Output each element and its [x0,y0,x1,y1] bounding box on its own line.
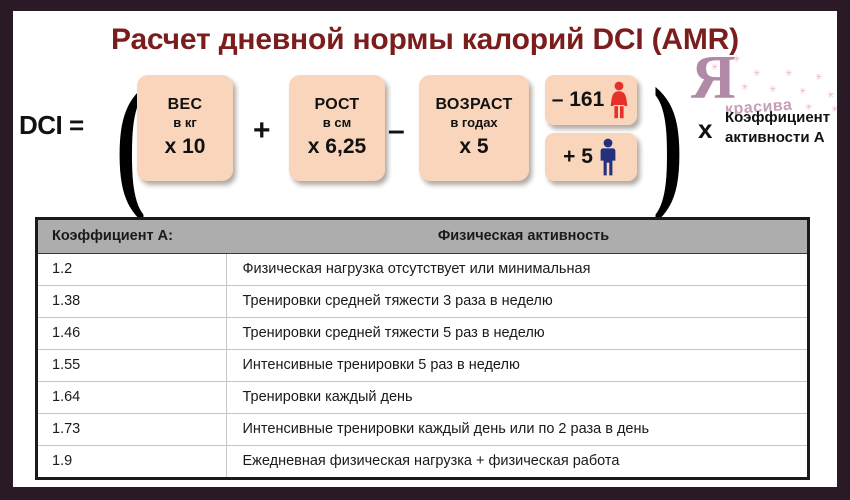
box-height-title: РОСТ [314,96,359,114]
male-figure-icon [597,138,619,176]
table-row: 1.55Интенсивные тренировки 5 раз в недел… [38,349,807,381]
box-age-unit: в годах [450,115,497,132]
cell-activity: Физическая нагрузка отсутствует или мини… [226,253,807,285]
cell-coefficient: 1.38 [38,285,226,317]
cell-coefficient: 1.46 [38,317,226,349]
formula-box-height: РОСТ в см x 6,25 [289,75,385,181]
cell-coefficient: 1.64 [38,381,226,413]
activity-coefficient-label: Коэффициент активности А [725,108,837,149]
table-row: 1.2Физическая нагрузка отсутствует или м… [38,253,807,285]
formula-box-age: ВОЗРАСТ в годах x 5 [419,75,529,181]
table-row: 1.64Тренировки каждый день [38,381,807,413]
cell-activity: Тренировки каждый день [226,381,807,413]
table-row: 1.9Ежедневная физическая нагрузка + физи… [38,445,807,477]
cell-activity: Тренировки средней тяжести 5 раз в недел… [226,317,807,349]
table-header-row: Коэффициент А: Физическая активность [38,220,807,253]
cell-activity: Интенсивные тренировки 5 раз в неделю [226,349,807,381]
cell-coefficient: 1.2 [38,253,226,285]
box-age-title: ВОЗРАСТ [435,96,512,114]
cell-coefficient: 1.73 [38,413,226,445]
cell-activity: Ежедневная физическая нагрузка + физичес… [226,445,807,477]
cell-activity: Интенсивные тренировки каждый день или п… [226,413,807,445]
formula-box-weight: ВЕС в кг x 10 [137,75,233,181]
infographic-poster: Я красива ✳ ✳ ✳ ✳ ✳ ✳ ✳ ✳ ✳ ✳ ✳ ✳ Расчет… [0,0,850,500]
table-row: 1.46Тренировки средней тяжести 5 раз в н… [38,317,807,349]
table-row: 1.38Тренировки средней тяжести 3 раза в … [38,285,807,317]
formula-box-male: + 5 [545,133,637,181]
box-weight-title: ВЕС [168,96,203,114]
activity-label-line2: активности А [725,128,837,148]
table-row: 1.73Интенсивные тренировки каждый день и… [38,413,807,445]
column-header-coefficient: Коэффициент А: [38,220,226,253]
activity-coefficient-table: Коэффициент А: Физическая активность 1.2… [35,217,810,480]
poster-canvas: Я красива ✳ ✳ ✳ ✳ ✳ ✳ ✳ ✳ ✳ ✳ ✳ ✳ Расчет… [13,11,837,487]
cell-coefficient: 1.55 [38,349,226,381]
cell-coefficient: 1.9 [38,445,226,477]
operator-plus: + [253,114,271,148]
cell-activity: Тренировки средней тяжести 3 раза в неде… [226,285,807,317]
column-header-activity: Физическая активность [226,220,807,253]
formula-box-female: – 161 [545,75,637,125]
operator-minus: – [388,114,405,148]
formula-result-label: DCI = [19,110,84,141]
box-weight-factor: x 10 [165,134,206,160]
activity-label-line1: Коэффициент [725,108,837,128]
box-height-factor: x 6,25 [308,134,366,160]
formula-diagram: DCI = ( ВЕС в кг x 10 + РОСТ в см x 6,25… [13,66,837,196]
paren-close: ) [652,66,683,216]
operator-times: х [698,114,712,145]
male-value: + 5 [563,145,593,169]
box-weight-unit: в кг [173,115,197,132]
female-figure-icon [608,81,630,119]
box-height-unit: в см [323,115,351,132]
page-title: Расчет дневной нормы калорий DCI (AMR) [13,23,837,57]
box-age-factor: x 5 [459,134,488,160]
female-value: – 161 [552,88,605,112]
